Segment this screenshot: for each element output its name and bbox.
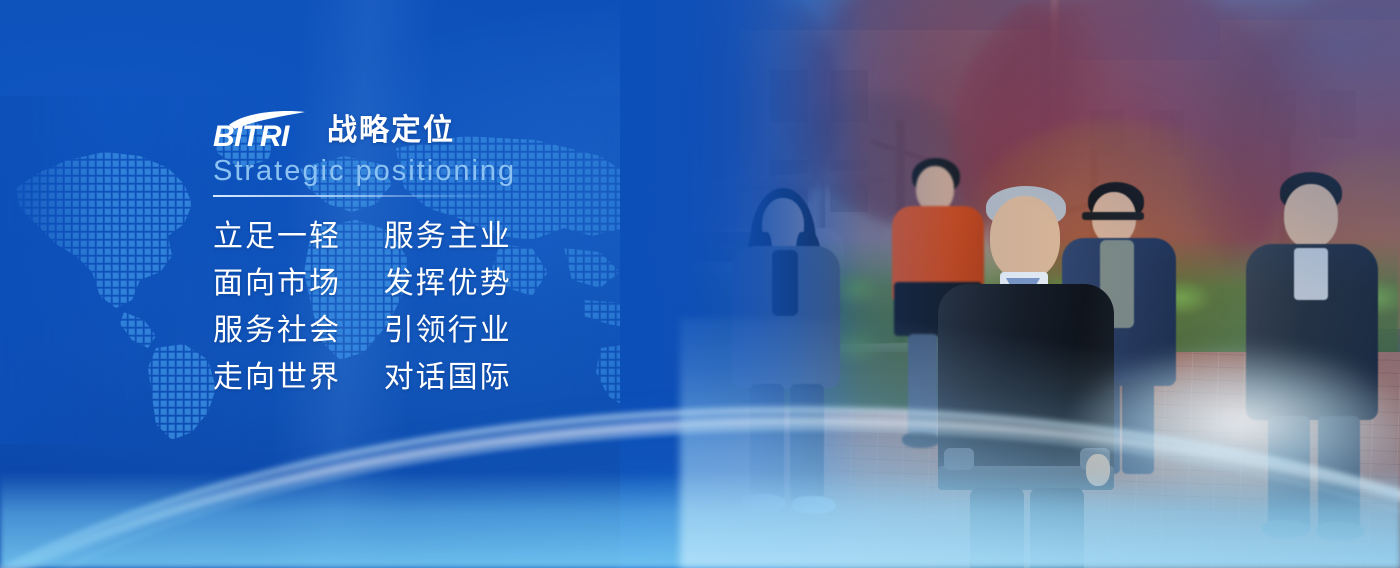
slogan-2-right: 发挥优势 [384, 267, 512, 300]
glass-sweep-overlay [680, 318, 1400, 568]
strategic-positioning-banner: BITRI 战略定位 Strategic positioning 立足一轻 服务… [0, 0, 1400, 568]
slogan-1-right: 服务主业 [384, 220, 512, 253]
slogan-3-left: 服务社会 [213, 314, 341, 347]
brand-lockup: BITRI 战略定位 [213, 104, 733, 148]
slogan-4-left: 走向世界 [213, 361, 341, 394]
slogan-1-left: 立足一轻 [213, 220, 341, 253]
bitri-logo: BITRI [213, 106, 313, 148]
slogan-line-3: 服务社会 引领行业 [213, 307, 733, 354]
bitri-wordmark-text: BITRI [213, 120, 290, 153]
slogan-3-right: 引领行业 [384, 314, 512, 347]
slogan-line-4: 走向世界 对话国际 [213, 354, 733, 401]
headline-block: BITRI 战略定位 Strategic positioning 立足一轻 服务… [213, 104, 733, 401]
brand-subtitle-en: Strategic positioning [213, 156, 733, 186]
slogan-4-right: 对话国际 [384, 361, 512, 394]
slogan-2-left: 面向市场 [213, 267, 341, 300]
slogan-list: 立足一轻 服务主业 面向市场 发挥优势 服务社会 引领行业 走向世界 对话国际 [213, 213, 733, 401]
headline-divider [213, 195, 505, 197]
brand-title-cn: 战略定位 [327, 116, 455, 148]
slogan-line-2: 面向市场 发挥优势 [213, 260, 733, 307]
slogan-line-1: 立足一轻 服务主业 [213, 213, 733, 260]
